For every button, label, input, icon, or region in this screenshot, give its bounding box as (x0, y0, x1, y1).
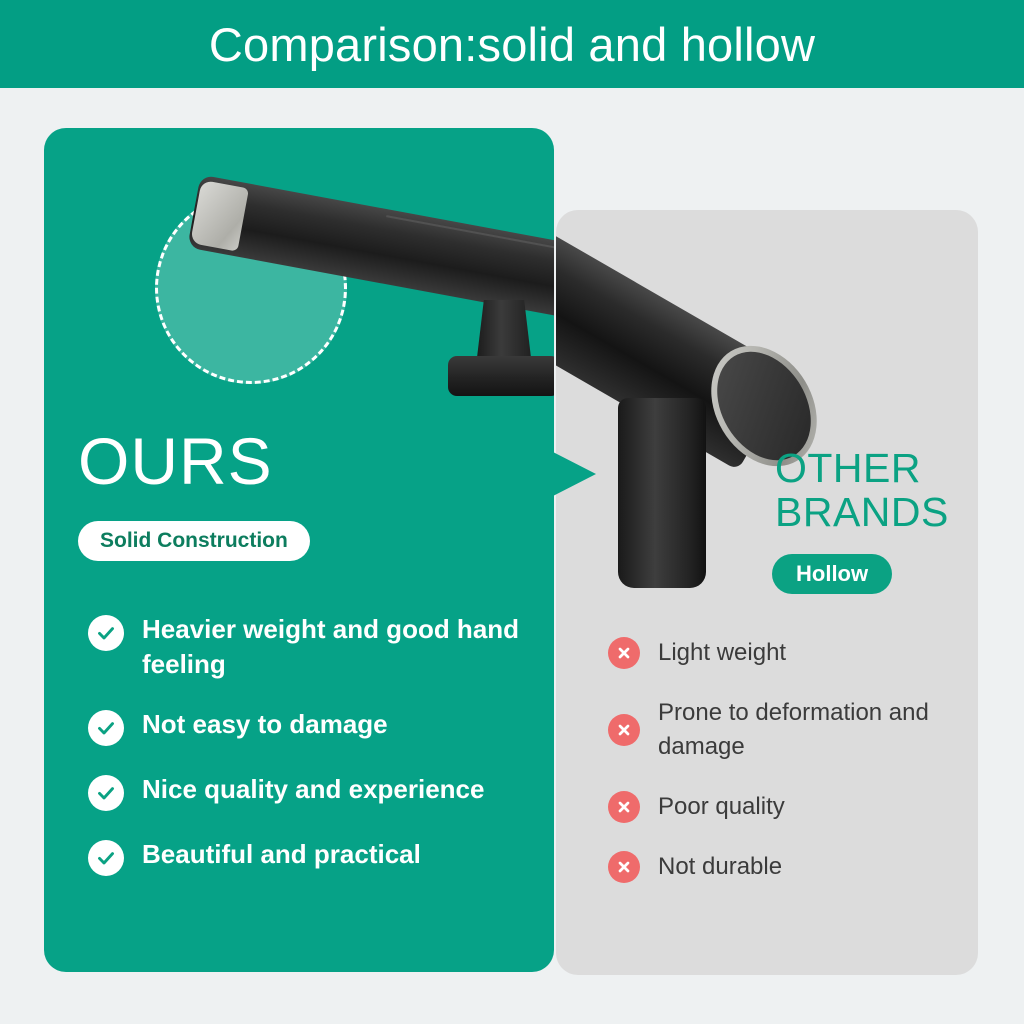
check-icon (88, 840, 124, 876)
list-item: Prone to deformation and damage (608, 696, 958, 764)
list-item-label: Nice quality and experience (142, 772, 484, 807)
square-bar-handle-solid-icon (44, 128, 554, 428)
list-item-label: Beautiful and practical (142, 837, 421, 872)
list-item-label: Prone to deformation and damage (658, 696, 958, 764)
list-item-label: Poor quality (658, 790, 785, 824)
list-item-label: Not easy to damage (142, 707, 388, 742)
other-brands-heading: OTHER BRANDS (775, 446, 949, 535)
cross-icon (608, 851, 640, 883)
ours-heading: OURS (78, 428, 273, 494)
cross-icon (608, 791, 640, 823)
header-bar: Comparison:solid and hollow (0, 0, 1024, 88)
list-item: Heavier weight and good hand feeling (88, 612, 528, 681)
check-icon (88, 775, 124, 811)
check-icon (88, 615, 124, 651)
list-item: Beautiful and practical (88, 837, 528, 876)
other-brands-heading-line2: BRANDS (775, 490, 949, 534)
solid-steel-cut-end (190, 180, 249, 252)
cross-icon (608, 714, 640, 746)
list-item-label: Heavier weight and good hand feeling (142, 612, 528, 681)
cross-icon (608, 637, 640, 669)
other-brands-feature-list: Light weight Prone to deformation and da… (608, 636, 958, 910)
hollow-badge: Hollow (772, 554, 892, 594)
list-item: Not durable (608, 850, 958, 884)
handle-foot-icon (448, 300, 554, 392)
hollow-badge-label: Hollow (796, 561, 868, 587)
page-title: Comparison:solid and hollow (209, 21, 815, 68)
comparison-infographic: Comparison:solid and hollow OURS Solid C… (0, 0, 1024, 1024)
bar-highlight-seam (386, 215, 554, 261)
ours-feature-list: Heavier weight and good hand feeling Not… (88, 612, 528, 902)
tube-post-icon (618, 398, 706, 588)
list-item: Not easy to damage (88, 707, 528, 746)
solid-construction-badge-label: Solid Construction (100, 529, 288, 553)
list-item-label: Light weight (658, 636, 786, 670)
list-item: Poor quality (608, 790, 958, 824)
list-item: Light weight (608, 636, 958, 670)
list-item-label: Not durable (658, 850, 782, 884)
check-icon (88, 710, 124, 746)
arrow-right-icon (553, 452, 596, 496)
handle-foot-base (448, 356, 554, 396)
other-brands-heading-line1: OTHER (775, 446, 949, 490)
solid-construction-badge: Solid Construction (78, 521, 310, 561)
list-item: Nice quality and experience (88, 772, 528, 811)
